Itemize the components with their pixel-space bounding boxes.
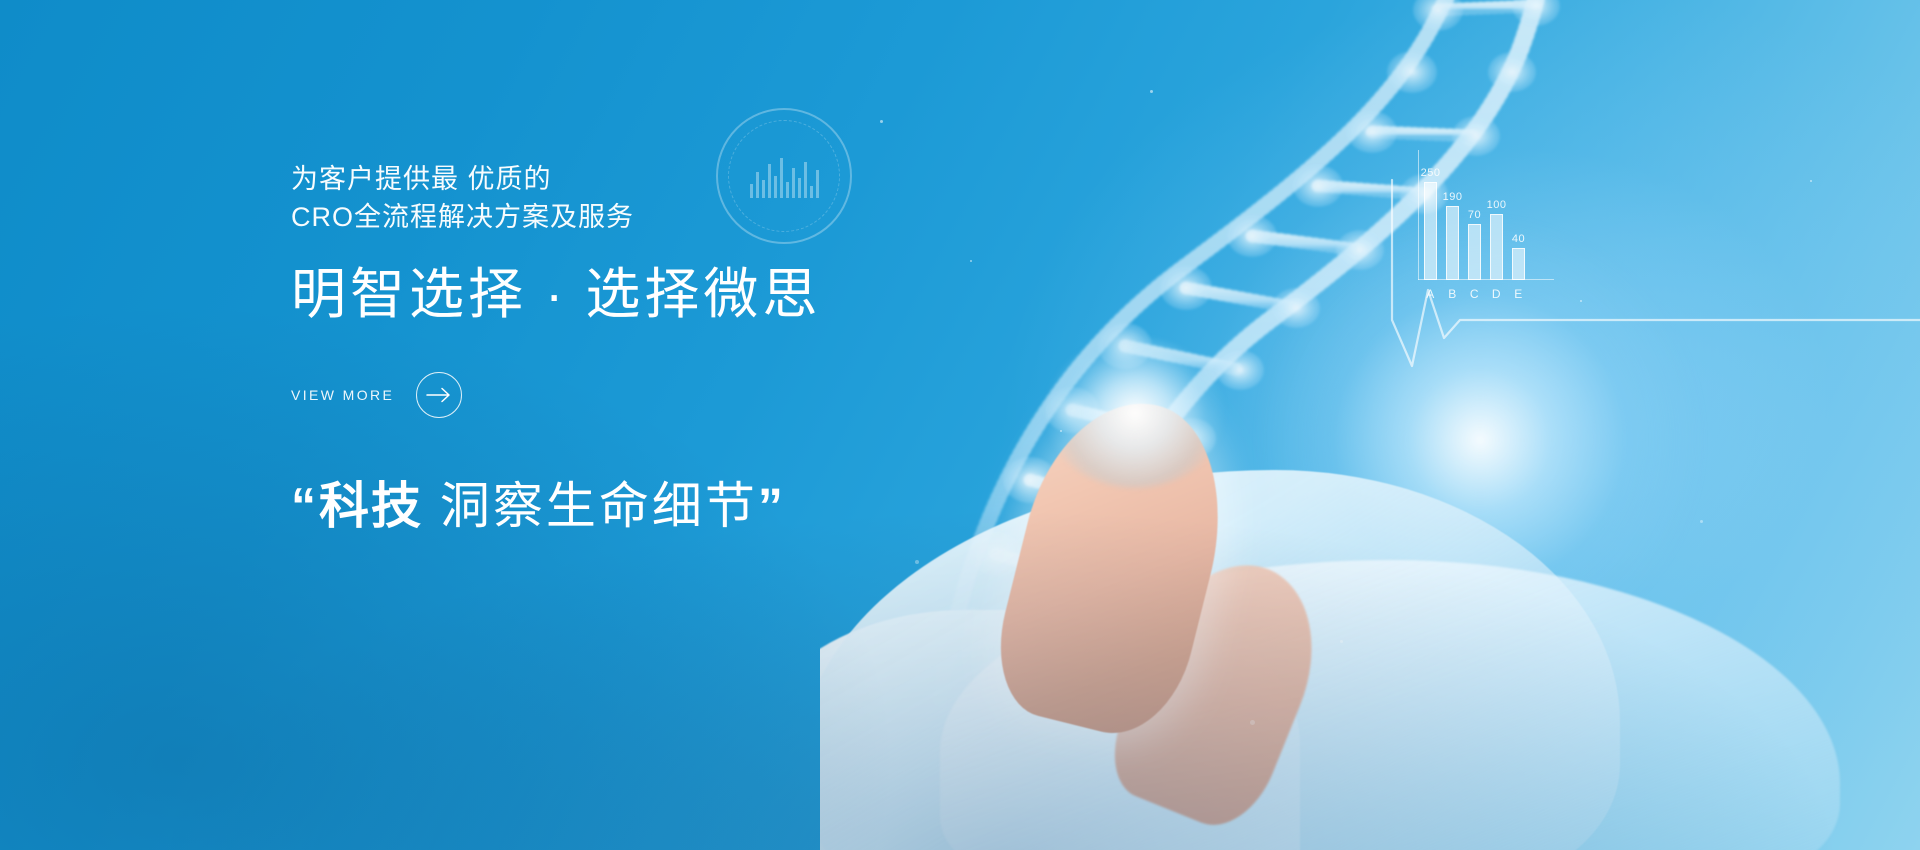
hud-bar-chart: 250 190 70 100 40 (1418, 150, 1548, 325)
hero-headline-separator: · (545, 263, 567, 325)
hero-copy: 为客户提供最 优质的 CRO全流程解决方案及服务 明智选择·选择微思 VIEW … (291, 160, 1191, 538)
hero-subtitle: 为客户提供最 优质的 CRO全流程解决方案及服务 (291, 160, 1191, 237)
quote-strong-text: 科技 (319, 478, 423, 534)
chart-bar-item: 190 (1446, 150, 1459, 280)
chart-bar-value: 40 (1512, 233, 1525, 245)
view-more-button[interactable]: VIEW MORE (291, 372, 462, 418)
quote-close-mark: ” (758, 478, 786, 534)
chart-bar-item: 100 (1490, 150, 1503, 280)
quote-rest-text: 洞察生命细节 (440, 478, 758, 534)
chart-category: C (1468, 287, 1481, 301)
quote-open-mark: “ (291, 478, 319, 534)
hero-headline: 明智选择·选择微思 (291, 261, 1191, 328)
chart-y-axis (1418, 150, 1419, 280)
chart-bar (1512, 248, 1525, 280)
chart-bar-value: 250 (1421, 167, 1441, 179)
chart-bar (1446, 206, 1459, 280)
chart-category: D (1490, 287, 1503, 301)
hero-banner: 250 190 70 100 40 (0, 0, 1920, 850)
chart-bar-item: 250 (1424, 150, 1437, 280)
chart-bar-value: 190 (1443, 191, 1463, 203)
chart-bar-item: 70 (1468, 150, 1481, 280)
chart-category: E (1512, 287, 1525, 301)
hud-bar-chart-plot: 250 190 70 100 40 (1418, 150, 1548, 280)
ecg-waveform-graphic (1320, 170, 1920, 390)
chart-category-labels: A B C D E (1418, 287, 1548, 301)
hero-headline-part1: 明智选择 (291, 263, 527, 325)
chart-category: B (1446, 287, 1459, 301)
chart-bar (1424, 182, 1437, 280)
chart-category: A (1424, 287, 1437, 301)
hero-quote: “科技 洞察生命细节” (291, 466, 1191, 538)
chart-bars: 250 190 70 100 40 (1424, 150, 1548, 280)
hero-subtitle-line2: CRO全流程解决方案及服务 (291, 198, 1191, 236)
chart-bar (1490, 214, 1503, 280)
hero-headline-part2: 选择微思 (585, 263, 821, 325)
chart-bar-item: 40 (1512, 150, 1525, 280)
hero-subtitle-line1: 为客户提供最 优质的 (291, 164, 552, 194)
view-more-label: VIEW MORE (291, 387, 394, 403)
chart-bar-value: 70 (1468, 209, 1481, 221)
chart-bar-value: 100 (1487, 199, 1507, 211)
chart-bar (1468, 224, 1481, 280)
arrow-right-icon[interactable] (416, 372, 462, 418)
